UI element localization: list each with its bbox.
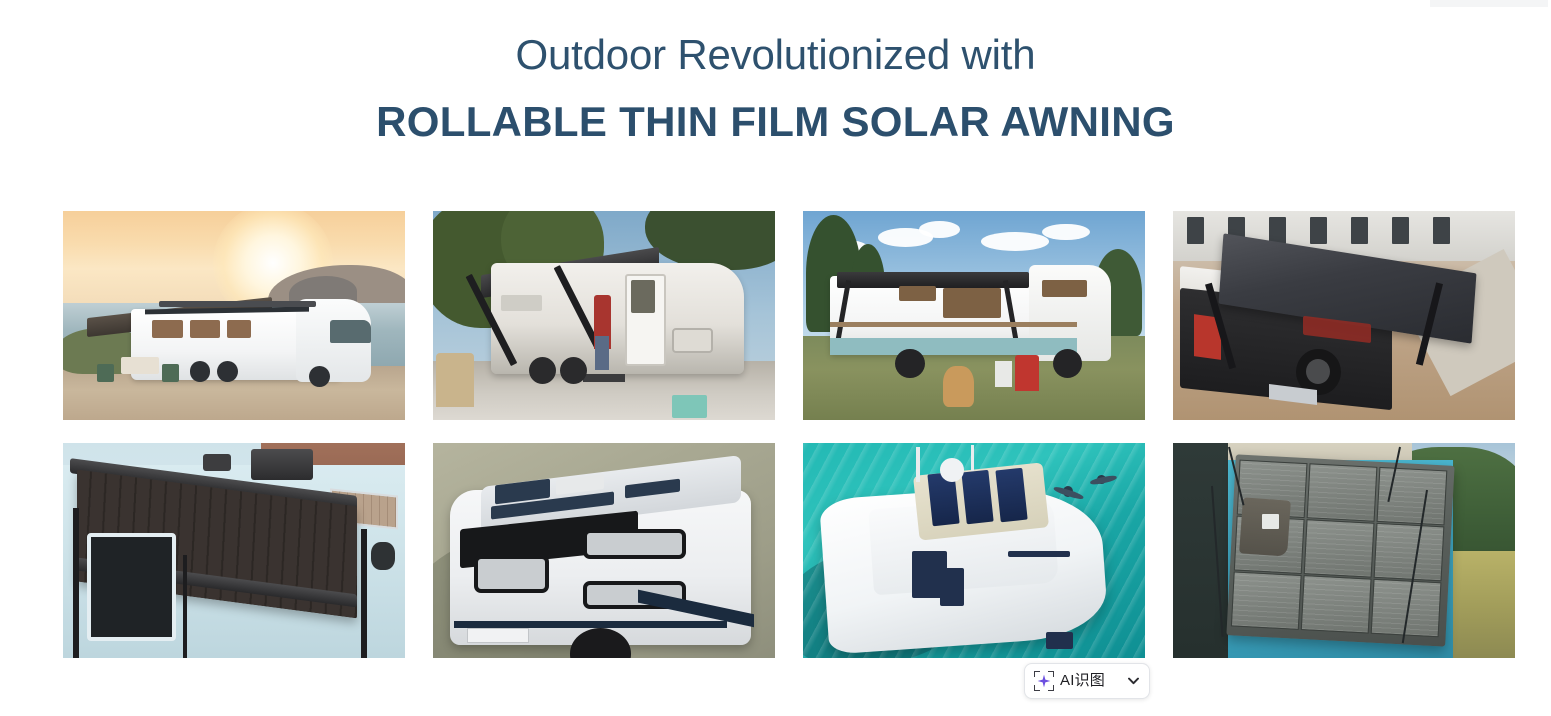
gallery-image-5[interactable] bbox=[63, 443, 405, 658]
ai-scan-sparkle-icon bbox=[1034, 671, 1054, 691]
page-title-line-2: ROLLABLE THIN FILM SOLAR AWNING bbox=[0, 92, 1551, 152]
page-title-line-1: Outdoor Revolutionized with bbox=[0, 26, 1551, 84]
top-edge-strip bbox=[1430, 0, 1548, 7]
page-title: Outdoor Revolutionized with ROLLABLE THI… bbox=[0, 26, 1551, 152]
gallery-image-7[interactable] bbox=[803, 443, 1145, 658]
chevron-down-icon[interactable] bbox=[1126, 674, 1140, 688]
gallery-image-6[interactable] bbox=[433, 443, 775, 658]
gallery-image-2[interactable] bbox=[433, 211, 775, 420]
page-root: Outdoor Revolutionized with ROLLABLE THI… bbox=[0, 0, 1551, 716]
gallery-image-3[interactable] bbox=[803, 211, 1145, 420]
gallery-image-1[interactable] bbox=[63, 211, 405, 420]
image-gallery bbox=[63, 211, 1488, 658]
ai-button-label: AI识图 bbox=[1060, 671, 1105, 691]
gallery-image-4[interactable] bbox=[1173, 211, 1515, 420]
ai-image-recognition-button[interactable]: AI识图 bbox=[1024, 663, 1150, 699]
gallery-image-8[interactable] bbox=[1173, 443, 1515, 658]
